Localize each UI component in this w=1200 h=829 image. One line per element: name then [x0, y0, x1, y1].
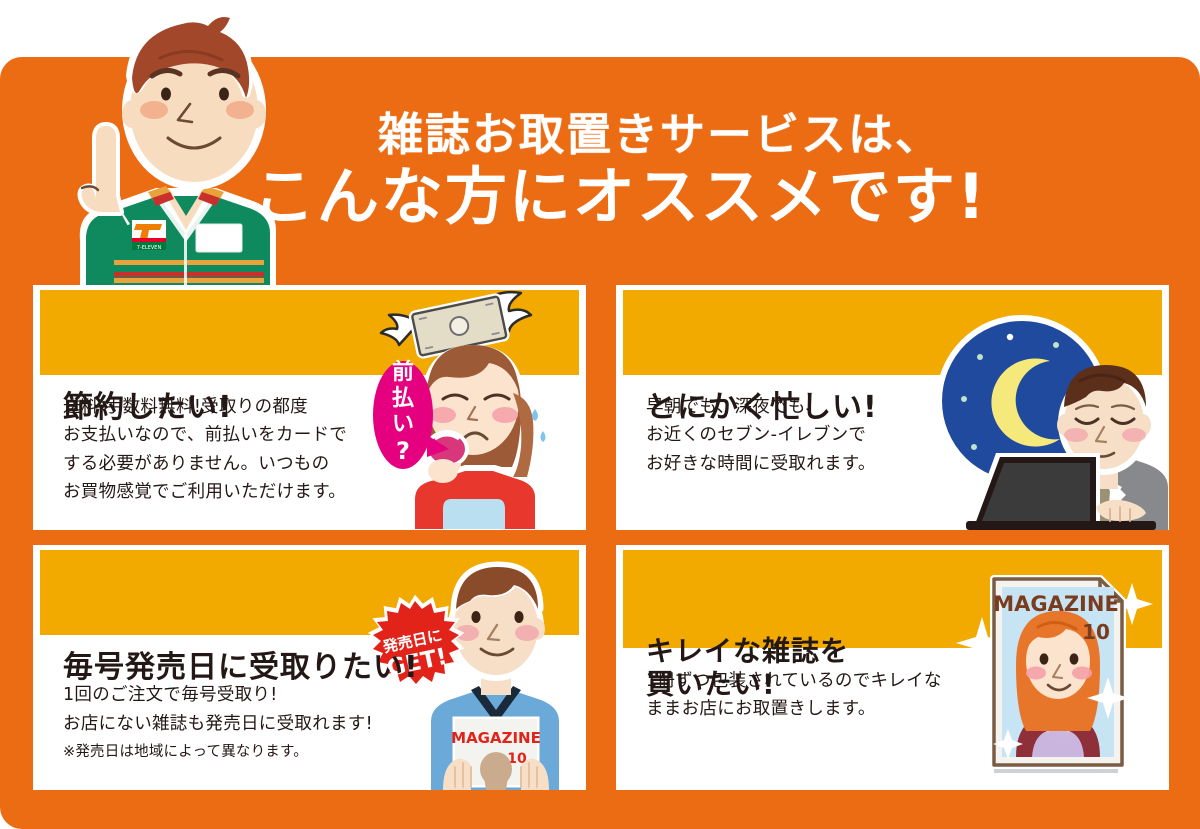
card-title: 毎号発売日に受取りたい!: [63, 650, 419, 686]
benefit-card-release-day: 毎号発売日に受取りたい! 1回のご注文で毎号受取り! お店にない雑誌も発売日に受…: [33, 545, 586, 790]
flying-money-icon: [381, 292, 531, 356]
magazine-number: 10: [1082, 620, 1110, 644]
headline-line-2: こんな方にオススメです!: [0, 161, 1200, 232]
svg-text:7-ELEVEN: 7-ELEVEN: [137, 245, 162, 251]
card-title: とにかく忙しい!: [646, 390, 878, 426]
promo-banner: 7-ELEVEN: [0, 0, 1200, 829]
card-title: キレイな雑誌を 買いたい!: [646, 634, 849, 701]
benefit-card-clean-magazine: キレイな雑誌を 買いたい! 1冊ずつ包装されているのでキレイな ままお店にお取置…: [616, 545, 1169, 790]
card-body-main: 1回のご注文で毎号受取り! お店にない雑誌も発売日に受取れます!: [63, 685, 373, 733]
page-title: 雑誌お取置きサービスは、 こんな方にオススメです!: [0, 108, 1200, 232]
magazine-title: MAGAZINE: [993, 592, 1119, 616]
benefit-card-grid: 節約したい! 送料・手数料無料!受取りの都度 お支払いなので、前払いをカードで …: [33, 285, 1169, 790]
benefit-card-very-busy: とにかく忙しい! 早朝でも、深夜でも、 お近くのセブン-イレブンで お好きな時間…: [616, 285, 1169, 530]
headline-line-1: 雑誌お取置きサービスは、: [0, 108, 1200, 161]
svg-text:前: 前: [392, 359, 414, 385]
card-note: ※発売日は地域によって異なります。: [63, 741, 576, 764]
card-title: 節約したい!: [63, 390, 233, 426]
benefit-card-save-money: 節約したい! 送料・手数料無料!受取りの都度 お支払いなので、前払いをカードで …: [33, 285, 586, 530]
